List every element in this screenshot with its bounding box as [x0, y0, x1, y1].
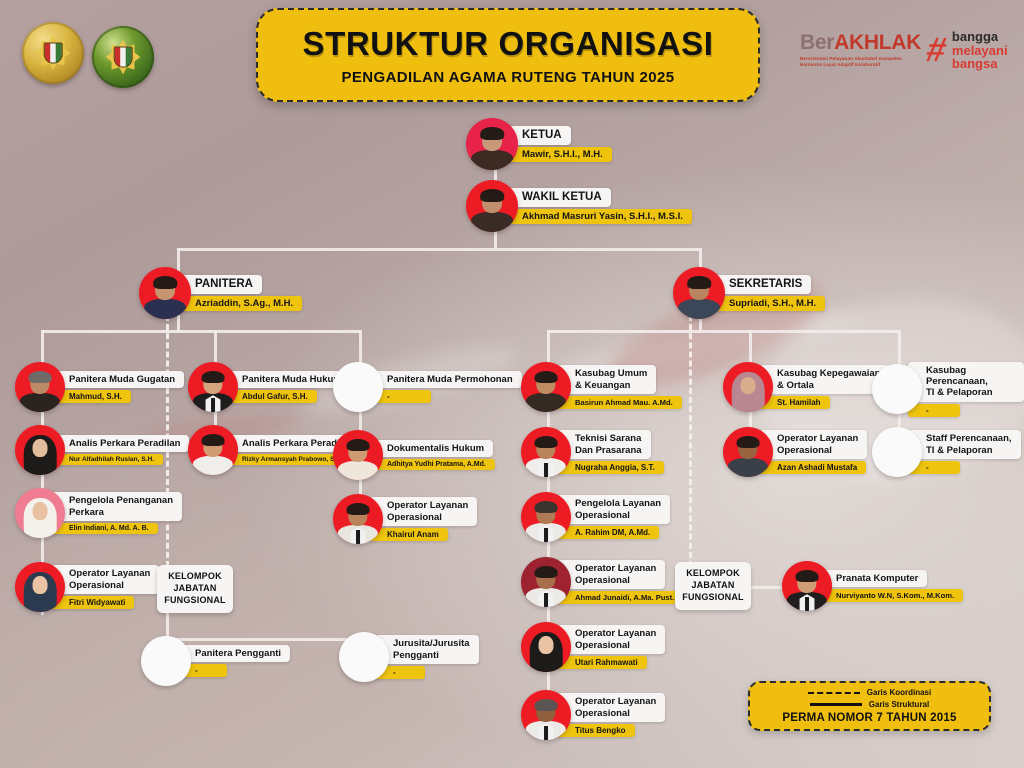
avatar-tie [544, 593, 548, 607]
legend-structural-label: Garis Struktural [869, 700, 929, 709]
node-labels: SEKRETARIS Supriadi, S.H., M.H. [711, 275, 825, 312]
node-teknisi-sarana-prasarana[interactable]: Teknisi Sarana Dan Prasarana Nugraha Ang… [521, 427, 664, 477]
node-name: Titus Bengko [557, 724, 635, 737]
node-labels: Panitera Muda Gugatan Mahmud, S.H. [51, 371, 184, 403]
avatar-body [193, 456, 233, 475]
bangga-melayani-bangsa: bangga melayani bangsa [952, 30, 1008, 71]
pengadilan-agama-ruteng-emblem [92, 26, 154, 88]
avatar-hair [535, 371, 558, 384]
avatar-figure [469, 126, 515, 170]
avatar-figure [726, 370, 770, 412]
avatar-placeholder [872, 427, 922, 477]
avatar-tie [544, 726, 548, 740]
avatar-placeholder [141, 636, 191, 686]
node-operator-layanan-ahmad[interactable]: Operator Layanan Operasional Ahmad Junai… [521, 557, 683, 607]
node-pranata-komputer[interactable]: Pranata Komputer Nurviyanto W.N, S.Kom.,… [782, 561, 963, 611]
melayani-line: melayani [952, 44, 1008, 58]
bangga-line: bangga [952, 30, 1008, 44]
title-card: STRUKTUR ORGANISASI PENGADILAN AGAMA RUT… [256, 8, 760, 102]
avatar-body [20, 393, 60, 412]
node-staff-perencanaan-ti-pelaporan[interactable]: Staff Perencanaan, TI & Pelaporan - [872, 427, 1021, 477]
node-wakil-ketua[interactable]: WAKIL KETUA Akhmad Masruri Yasin, S.H.I.… [466, 180, 692, 232]
node-role: Analis Perkara Peradilan [51, 435, 189, 452]
node-name: Supriadi, S.H., M.H. [711, 296, 825, 311]
node-kasubag-kepegawaian-ortala[interactable]: Kasubag Kepegawaian & Ortala St. Hamilah [723, 362, 889, 412]
avatar-figure [524, 435, 568, 477]
avatar-figure [18, 370, 62, 412]
node-role: Panitera Muda Permohonan [369, 371, 522, 388]
node-labels: Pranata Komputer Nurviyanto W.N, S.Kom.,… [818, 570, 963, 602]
node-panitera[interactable]: PANITERA Azriaddin, S.Ag., M.H. [139, 267, 302, 319]
avatar [15, 488, 65, 538]
avatar-tie [805, 597, 809, 611]
node-operator-layanan-azan[interactable]: Operator Layanan Operasional Azan Ashadi… [723, 427, 867, 477]
avatar-figure [336, 438, 380, 480]
node-labels: Operator Layanan Operasional Fitri Widya… [51, 565, 159, 608]
node-role: Panitera Muda Gugatan [51, 371, 184, 388]
avatar [466, 180, 518, 232]
solid-line-icon [810, 703, 862, 706]
legend-row-structural: Garis Struktural [810, 700, 929, 709]
avatar-figure [524, 370, 568, 412]
node-sekretaris[interactable]: SEKRETARIS Supriadi, S.H., M.H. [673, 267, 825, 319]
avatar-figure [676, 275, 722, 319]
node-role: Kasubag Umum & Keuangan [557, 365, 656, 393]
berakhlak-wordmark: BerAKHLAK Berorientasi Pelayanan Akuntab… [800, 32, 921, 68]
avatar [723, 427, 773, 477]
avatar-hair [535, 566, 558, 579]
node-role: Operator Layanan Operasional [557, 693, 665, 721]
kelompok-jabatan-fungsional-right: KELOMPOK JABATAN FUNGSIONAL [675, 562, 751, 610]
avatar-hair [480, 127, 504, 140]
node-name: - [908, 404, 960, 417]
avatar-body [471, 212, 513, 232]
node-name: Adhitya Yudhi Pratama, A.Md. [369, 459, 495, 470]
kjf-label: KELOMPOK JABATAN FUNGSIONAL [682, 568, 744, 604]
avatar [15, 362, 65, 412]
node-role: Pengelola Layanan Operasional [557, 495, 670, 523]
node-labels: Kasubag Kepegawaian & Ortala St. Hamilah [759, 365, 889, 408]
node-name: Mawir, S.H.I., M.H. [504, 147, 612, 162]
node-role: Teknisi Sarana Dan Prasarana [557, 430, 651, 458]
node-role: Operator Layanan Operasional [557, 560, 665, 588]
avatar-hair [535, 436, 558, 449]
berakhlak-suffix: AKHLAK [834, 31, 921, 54]
kelompok-jabatan-fungsional-left: KELOMPOK JABATAN FUNGSIONAL [157, 565, 233, 613]
node-name: Ahmad Junaidi, A.Ma. Pust. [557, 591, 683, 604]
node-panitera-muda-hukum[interactable]: Panitera Muda Hukum Abdul Gafur, S.H. [188, 362, 351, 412]
avatar [333, 430, 383, 480]
page-subtitle: PENGADILAN AGAMA RUTENG TAHUN 2025 [341, 69, 674, 86]
berakhlak-word: BerAKHLAK [800, 32, 921, 53]
node-role: Dokumentalis Hukum [369, 440, 493, 457]
avatar-figure [726, 435, 770, 477]
avatar-placeholder [333, 362, 383, 412]
node-labels: Operator Layanan Operasional Azan Ashadi… [759, 430, 867, 473]
avatar-head [741, 377, 756, 394]
node-role: Kasubag Kepegawaian & Ortala [759, 365, 889, 393]
kjf-label: KELOMPOK JABATAN FUNGSIONAL [164, 571, 226, 607]
node-name: A. Rahim DM, A.Md. [557, 526, 659, 539]
avatar-figure [18, 496, 62, 538]
avatar-hair [347, 439, 370, 452]
avatar-hair [535, 501, 558, 514]
node-labels: Analis Perkara Peradilan Nur Alfadhilah … [51, 435, 189, 465]
node-labels: Operator Layanan Operasional Khairul Ana… [369, 497, 477, 540]
mahkamah-agung-emblem [22, 22, 84, 84]
bangsa-line: bangsa [952, 57, 1008, 71]
page-title: STRUKTUR ORGANISASI [302, 25, 713, 63]
node-name: Nur Alfadhilah Ruslan, S.H. [51, 454, 163, 465]
node-operator-layanan-titus[interactable]: Operator Layanan Operasional Titus Bengk… [521, 690, 665, 740]
avatar [521, 427, 571, 477]
node-role: Operator Layanan Operasional [557, 625, 665, 653]
avatar-hair [29, 371, 52, 384]
node-operator-layanan-fitri[interactable]: Operator Layanan Operasional Fitri Widya… [15, 562, 159, 612]
node-labels: WAKIL KETUA Akhmad Masruri Yasin, S.H.I.… [504, 188, 692, 225]
avatar [139, 267, 191, 319]
avatar [521, 622, 571, 672]
node-jurusita-pengganti[interactable]: Jurusita/Jurusita Pengganti - [339, 632, 479, 682]
avatar [466, 118, 518, 170]
node-name: Azan Ashadi Mustafa [759, 461, 866, 474]
node-labels: Staff Perencanaan, TI & Pelaporan - [908, 430, 1021, 473]
node-name: Utari Rahmawati [557, 656, 647, 669]
node-labels: Operator Layanan Operasional Ahmad Junai… [557, 560, 683, 603]
node-panitera-muda-permohonan[interactable]: Panitera Muda Permohonan - [333, 362, 522, 412]
avatar [673, 267, 725, 319]
node-name: Khairul Anam [369, 528, 448, 541]
avatar-placeholder [872, 364, 922, 414]
connector-panitera-bar [41, 330, 361, 333]
avatar-figure [524, 630, 568, 672]
org-chart-canvas: STRUKTUR ORGANISASI PENGADILAN AGAMA RUT… [0, 0, 1024, 768]
avatar [521, 492, 571, 542]
node-pengelola-layanan-operasional[interactable]: Pengelola Layanan Operasional A. Rahim D… [521, 492, 670, 542]
avatar [188, 362, 238, 412]
connector-sekretaris-bar [547, 330, 900, 333]
avatar-hair [687, 276, 711, 289]
node-role: Operator Layanan Operasional [759, 430, 867, 458]
avatar-figure [524, 698, 568, 740]
avatar-body [526, 393, 566, 412]
node-name: Basirun Ahmad Mau. A.Md. [557, 396, 682, 409]
node-labels: PANITERA Azriaddin, S.Ag., M.H. [177, 275, 302, 312]
avatar-figure [142, 275, 188, 319]
berakhlak-tagline-2: Harmonis Loyal Adaptif Kolaboratif [800, 62, 921, 68]
avatar-figure [18, 433, 62, 475]
node-labels: Panitera Muda Hukum Abdul Gafur, S.H. [224, 371, 351, 403]
connector-main-bar [177, 248, 702, 251]
avatar [782, 561, 832, 611]
avatar-head [539, 636, 554, 654]
avatar-figure [18, 570, 62, 612]
node-panitera-muda-gugatan[interactable]: Panitera Muda Gugatan Mahmud, S.H. [15, 362, 184, 412]
avatar-hair [202, 434, 225, 447]
node-labels: Kasubag Umum & Keuangan Basirun Ahmad Ma… [557, 365, 682, 408]
avatar-figure [524, 565, 568, 607]
avatar-figure [191, 433, 235, 475]
avatar-body [338, 461, 378, 480]
avatar-figure [785, 569, 829, 611]
node-role: Pranata Komputer [818, 570, 927, 587]
avatar [188, 425, 238, 475]
avatar [521, 362, 571, 412]
node-role: WAKIL KETUA [504, 188, 611, 208]
avatar-hair [202, 371, 225, 384]
hash-icon: # [923, 33, 949, 67]
node-role: SEKRETARIS [711, 275, 811, 295]
node-dokumentalis-hukum[interactable]: Dokumentalis Hukum Adhitya Yudhi Pratama… [333, 430, 495, 480]
node-labels: Teknisi Sarana Dan Prasarana Nugraha Ang… [557, 430, 664, 473]
avatar [333, 494, 383, 544]
node-labels: Panitera Pengganti - [177, 645, 290, 677]
legend-coordination-label: Garis Koordinasi [867, 688, 931, 697]
avatar-figure [191, 370, 235, 412]
node-panitera-pengganti[interactable]: Panitera Pengganti - [141, 636, 290, 686]
node-labels: Panitera Muda Permohonan - [369, 371, 522, 403]
node-kasubag-umum-keuangan[interactable]: Kasubag Umum & Keuangan Basirun Ahmad Ma… [521, 362, 682, 412]
node-operator-layanan-khairul[interactable]: Operator Layanan Operasional Khairul Ana… [333, 494, 477, 544]
node-role: Operator Layanan Operasional [51, 565, 159, 593]
node-operator-layanan-utari[interactable]: Operator Layanan Operasional Utari Rahma… [521, 622, 665, 672]
avatar [723, 362, 773, 412]
node-role: Panitera Muda Hukum [224, 371, 351, 388]
avatar-hair [737, 436, 760, 449]
node-name: Nugraha Anggia, S.T. [557, 461, 664, 474]
emblem-shield [44, 42, 63, 63]
avatar-tie [544, 528, 548, 542]
avatar-hair [796, 570, 819, 583]
node-role: Staff Perencanaan, TI & Pelaporan [908, 430, 1021, 458]
node-labels: Pengelola Layanan Operasional A. Rahim D… [557, 495, 670, 538]
avatar-body [144, 299, 186, 319]
avatar [15, 425, 65, 475]
avatar-hair [480, 189, 504, 202]
emblem-shield [114, 46, 133, 67]
node-role: Jurusita/Jurusita Pengganti [375, 635, 479, 663]
node-name: Nurviyanto W.N, S.Kom., M.Kom. [818, 589, 963, 602]
node-labels: Pengelola Penanganan Perkara Elin Indian… [51, 492, 182, 533]
node-labels: Operator Layanan Operasional Titus Bengk… [557, 693, 665, 736]
avatar [15, 562, 65, 612]
avatar [521, 690, 571, 740]
node-role: Panitera Pengganti [177, 645, 290, 662]
node-analis-perkara-peradilan-1[interactable]: Analis Perkara Peradilan Nur Alfadhilah … [15, 425, 189, 475]
node-role: Operator Layanan Operasional [369, 497, 477, 525]
node-name: Akhmad Masruri Yasin, S.H.I., M.S.I. [504, 209, 692, 224]
dashed-line-icon [808, 692, 860, 694]
node-labels: Operator Layanan Operasional Utari Rahma… [557, 625, 665, 668]
node-labels: KETUA Mawir, S.H.I., M.H. [504, 126, 612, 163]
node-name: Fitri Widyawati [51, 596, 134, 609]
node-labels: Kasubag Perencanaan, TI & Pelaporan - [908, 362, 1024, 417]
avatar [521, 557, 571, 607]
node-labels: Dokumentalis Hukum Adhitya Yudhi Pratama… [369, 440, 495, 470]
node-name: Elin Indiani, A. Md. A. B. [51, 523, 158, 534]
avatar-hair [153, 276, 177, 289]
avatar-placeholder [339, 632, 389, 682]
node-ketua[interactable]: KETUA Mawir, S.H.I., M.H. [466, 118, 612, 170]
berakhlak-prefix: Ber [800, 31, 834, 54]
avatar-tie [356, 530, 360, 544]
avatar-head [33, 576, 48, 594]
coordination-line-sekretaris [689, 315, 692, 567]
legend-footer: PERMA NOMOR 7 TAHUN 2015 [782, 712, 956, 724]
avatar-tie [544, 463, 548, 477]
avatar-tie [211, 398, 215, 412]
avatar-head [33, 439, 48, 457]
node-role: Pengelola Penanganan Perkara [51, 492, 182, 520]
avatar-figure [469, 188, 515, 232]
avatar-figure [336, 502, 380, 544]
node-kasubag-perencanaan-ti-pelaporan[interactable]: Kasubag Perencanaan, TI & Pelaporan - [872, 362, 1024, 417]
avatar-hair [347, 503, 370, 516]
node-role: Kasubag Perencanaan, TI & Pelaporan [908, 362, 1024, 402]
legend-box: Garis Koordinasi Garis Struktural PERMA … [748, 681, 991, 731]
avatar-body [471, 150, 513, 170]
avatar-head [33, 502, 48, 520]
avatar-hair [535, 699, 558, 712]
node-pengelola-penanganan-perkara[interactable]: Pengelola Penanganan Perkara Elin Indian… [15, 488, 182, 538]
berakhlak-branding: BerAKHLAK Berorientasi Pelayanan Akuntab… [800, 30, 1008, 71]
avatar-body [678, 299, 720, 319]
node-labels: Jurusita/Jurusita Pengganti - [375, 635, 479, 678]
legend-row-coordination: Garis Koordinasi [808, 688, 931, 697]
node-name: Azriaddin, S.Ag., M.H. [177, 296, 302, 311]
avatar-figure [524, 500, 568, 542]
avatar-body [728, 458, 768, 477]
node-name: Abdul Gafur, S.H. [224, 390, 317, 403]
